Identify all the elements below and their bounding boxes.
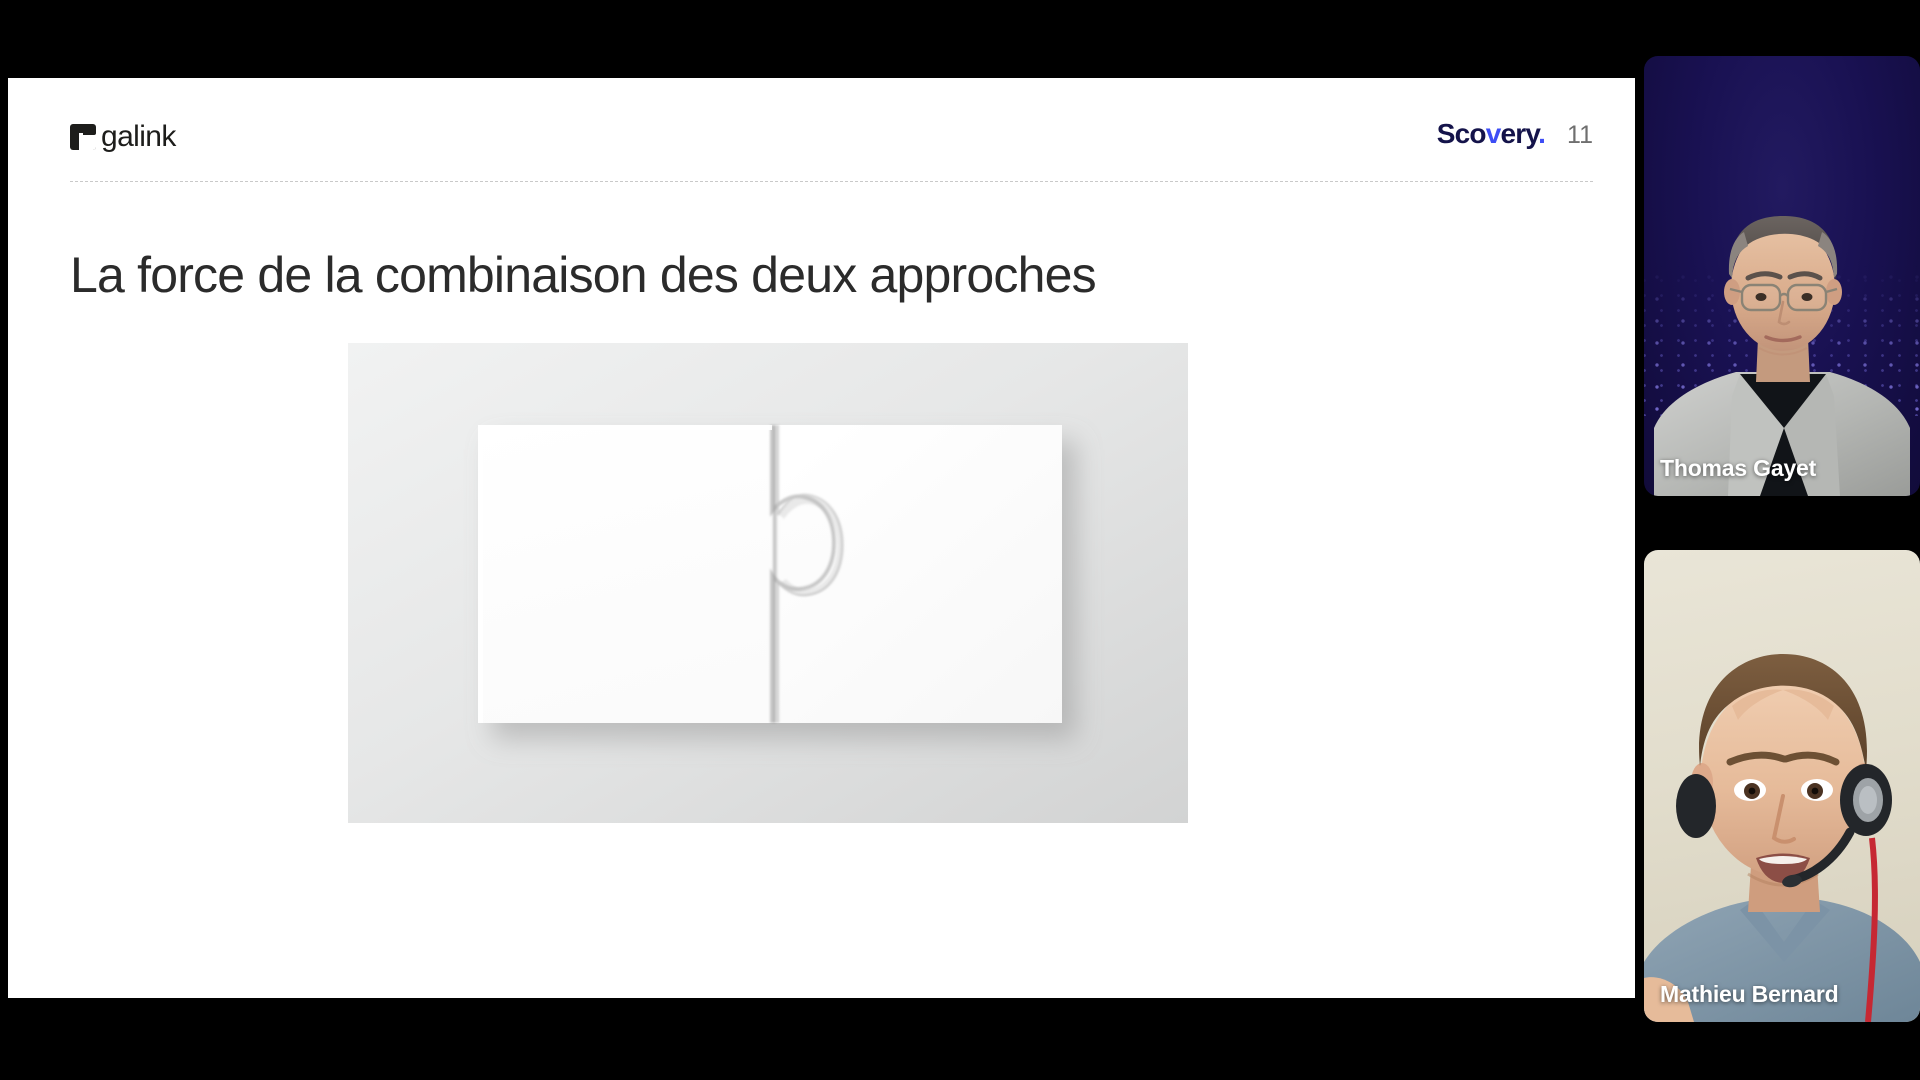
participant-name-label: Mathieu Bernard	[1660, 981, 1838, 1008]
header-divider	[70, 181, 1593, 182]
shared-slide[interactable]: galink Scovery. 11 La force de la combin…	[8, 78, 1635, 998]
galink-wordmark: galink	[101, 122, 176, 152]
scovery-prefix: Sco	[1437, 118, 1486, 149]
scovery-suffix: ery	[1500, 118, 1538, 149]
slide-header: galink Scovery. 11	[70, 118, 1593, 166]
participant-tile-mathieu-bernard[interactable]: Mathieu Bernard	[1644, 550, 1920, 1022]
participant-video-mathieu	[1644, 550, 1920, 1022]
scovery-logo: Scovery.	[1437, 118, 1545, 150]
slide-page-number: 11	[1567, 121, 1593, 150]
scovery-accent-letter: v	[1486, 118, 1501, 149]
slide-header-right: Scovery. 11	[1437, 118, 1593, 150]
scovery-dot: .	[1538, 118, 1545, 149]
puzzle-pieces-icon	[348, 343, 1188, 823]
slide-title: La force de la combinaison des deux appr…	[70, 247, 1520, 305]
participant-name-label: Thomas Gayet	[1660, 455, 1816, 482]
puzzle-illustration	[348, 343, 1188, 823]
galink-logo: galink	[70, 122, 176, 152]
participant-video-thomas	[1644, 56, 1920, 496]
meeting-screen: galink Scovery. 11 La force de la combin…	[0, 0, 1920, 1080]
participant-tile-thomas-gayet[interactable]: Thomas Gayet	[1644, 56, 1920, 496]
galink-bracket-mark-icon	[70, 124, 96, 150]
